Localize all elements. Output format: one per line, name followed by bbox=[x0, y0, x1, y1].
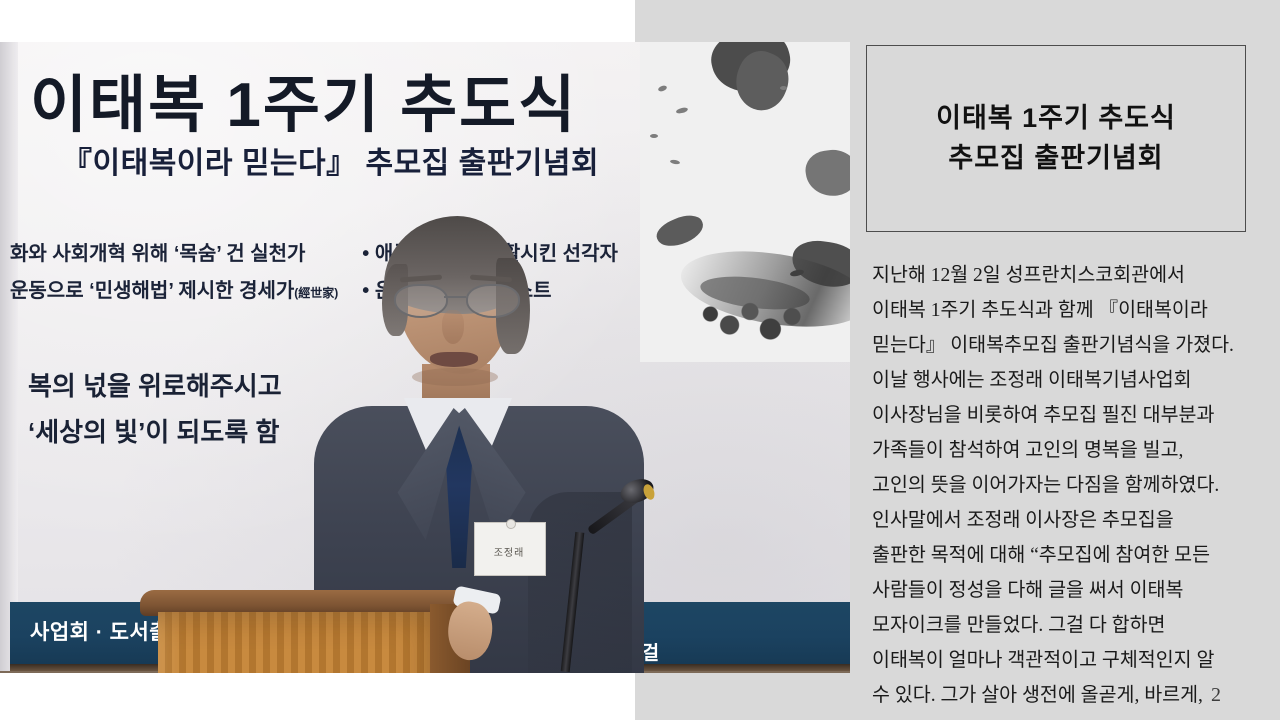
banner-bullet-left-1: 화와 사회개혁 위해 ‘목숨’ 건 실천가 bbox=[10, 236, 338, 273]
banner-left-edge bbox=[0, 42, 18, 673]
banner-headline: 이태복 1주기 추도식 bbox=[30, 54, 577, 144]
body-line-10: 사람들이 정성을 다해 글을 써서 이태복 bbox=[872, 573, 1252, 608]
glasses-bridge bbox=[444, 296, 466, 298]
body-line-5: 이사장님을 비롯하여 추모집 필진 대부분과 bbox=[872, 398, 1252, 433]
body-line-11: 모자이크를 만들었다. 그걸 다 합하면 bbox=[872, 608, 1252, 643]
podium-body bbox=[158, 612, 458, 673]
slide: 이태복 1주기 추도식 『이태복이라 믿는다』 추모집 출판기념회 화와 사회개… bbox=[0, 0, 1280, 720]
body-line-13: 수 있다. 그가 살아 생전에 올곧게, 바르게, bbox=[872, 678, 1252, 713]
lens-right bbox=[466, 284, 520, 318]
nose bbox=[442, 310, 464, 344]
body-line-8: 인사말에서 조정래 이사장은 추모집을 bbox=[872, 503, 1252, 538]
title-box: 이태복 1주기 추도식 추모집 출판기념회 bbox=[866, 45, 1246, 232]
body-line-1: 지난해 12월 2일 성프란치스코회관에서 bbox=[872, 258, 1252, 293]
ink-wash-artwork bbox=[640, 42, 850, 362]
body-line-3: 믿는다』 이태복추모집 출판기념식을 가졌다. bbox=[872, 328, 1252, 363]
banner-bullets-left: 화와 사회개혁 위해 ‘목숨’ 건 실천가 운동으로 ‘민생해법’ 제시한 경세… bbox=[10, 236, 338, 310]
body-line-2: 이태복 1주기 추도식과 함께 『이태복이라 bbox=[872, 293, 1252, 328]
mouth bbox=[430, 352, 478, 367]
name-badge-hole bbox=[506, 519, 516, 529]
body-line-7: 고인의 뜻을 이어가자는 다짐을 함께하였다. bbox=[872, 468, 1252, 503]
event-photo: 이태복 1주기 추도식 『이태복이라 믿는다』 추모집 출판기념회 화와 사회개… bbox=[0, 42, 850, 673]
body-line-6: 가족들이 참석하여 고인의 명복을 빌고, bbox=[872, 433, 1252, 468]
banner-memorial-text: 복의 넋을 위로해주시고 ‘세상의 빛’이 되도록 함 bbox=[28, 364, 282, 455]
chin-shadow bbox=[412, 368, 498, 386]
banner-memorial-line-2: ‘세상의 빛’이 되도록 함 bbox=[28, 410, 282, 456]
arm-shadow bbox=[528, 492, 632, 673]
banner-bullet-left-2: 운동으로 ‘민생해법’ 제시한 경세가(經世家) bbox=[10, 273, 338, 310]
body-text: 지난해 12월 2일 성프란치스코회관에서 이태복 1주기 추도식과 함께 『이… bbox=[872, 258, 1252, 713]
lens-left bbox=[394, 284, 448, 318]
body-line-9: 출판한 목적에 대해 “추모집에 참여한 모든 bbox=[872, 538, 1252, 573]
banner-memorial-line-1: 복의 넋을 위로해주시고 bbox=[28, 364, 282, 410]
title-line-1: 이태복 1주기 추도식 bbox=[936, 99, 1176, 138]
paper-band-top bbox=[0, 0, 635, 42]
body-line-4: 이날 행사에는 조정래 이태복기념사업회 bbox=[872, 363, 1252, 398]
name-badge-text: 조정래 bbox=[474, 544, 544, 559]
body-line-12: 이태복이 얼마나 객관적이고 구체적인지 알 bbox=[872, 643, 1252, 678]
title-line-2: 추모집 출판기념회 bbox=[936, 139, 1176, 178]
page-number: 2 bbox=[1211, 684, 1221, 707]
paper-band-bottom bbox=[0, 673, 635, 720]
banner-subtitle: 『이태복이라 믿는다』 추모집 출판기념회 bbox=[62, 138, 599, 182]
